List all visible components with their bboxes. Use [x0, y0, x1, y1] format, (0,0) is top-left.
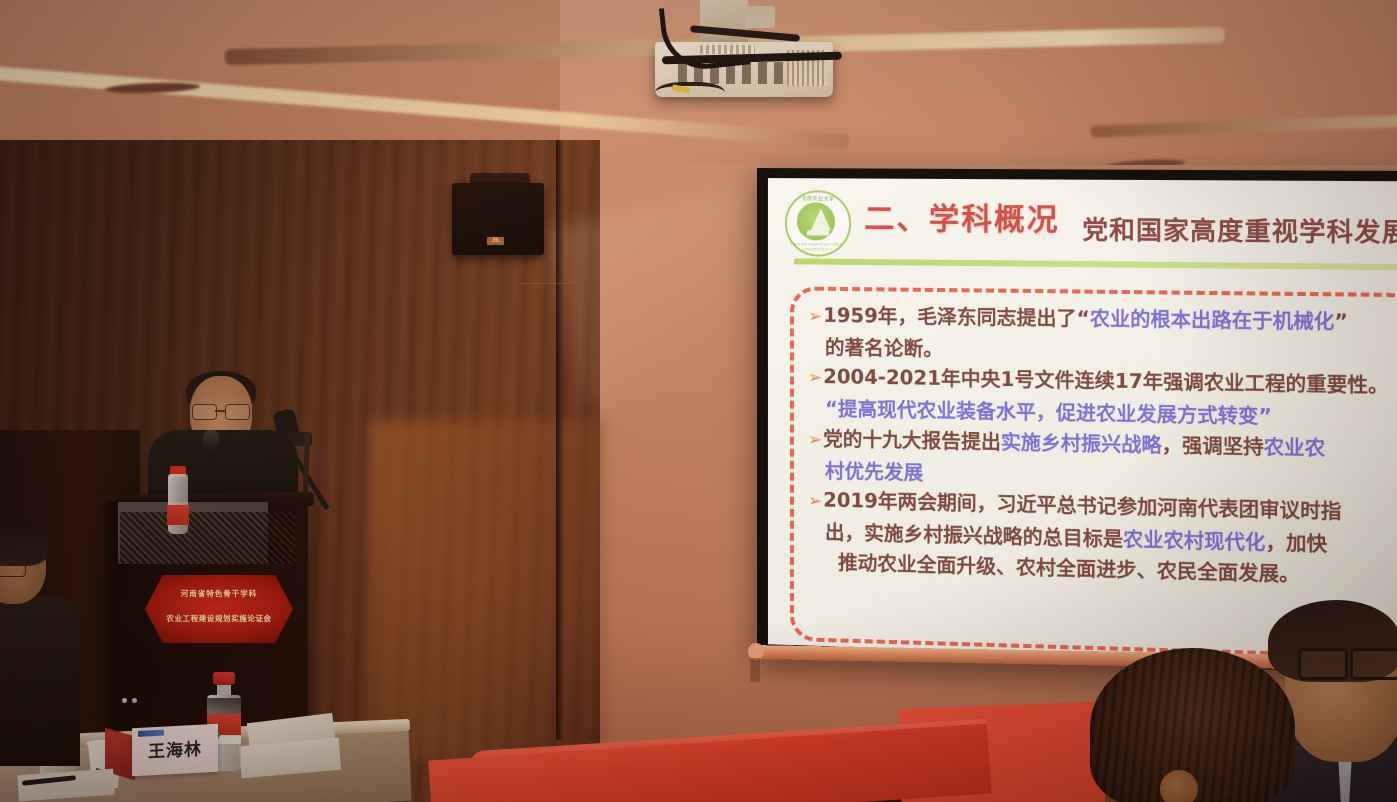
projection-screen: 河南农业大学 HENAN AGRICULTURAL UNIVERSITY 二、学…	[757, 168, 1397, 674]
slide-text: 出，实施乡村振兴战略的总目标是	[825, 521, 1123, 551]
podium-mesh-panel	[120, 512, 295, 564]
glasses-lens-right	[1350, 648, 1397, 680]
attendee-center-ear	[1160, 770, 1198, 802]
glasses-lens-right	[225, 404, 250, 420]
slide-text-highlight: 农业农村现代化	[1123, 528, 1265, 555]
wall-column-edge	[556, 140, 564, 740]
attendee-left-torso	[0, 596, 80, 766]
emblem-roof-shape	[811, 208, 831, 230]
slide-text: ”	[1334, 310, 1348, 334]
emblem-book-shape	[807, 230, 829, 235]
podium-indicator-lights	[122, 698, 127, 703]
emblem-top-text: 河南农业大学	[787, 195, 849, 202]
glasses-bridge	[215, 410, 225, 412]
speaker-cable	[520, 253, 590, 284]
bottle-label	[167, 505, 189, 525]
glasses-lens-left	[192, 404, 217, 420]
attendee-left-hair	[0, 524, 48, 566]
slide-subtitle: 党和国家高度重视学科发展	[1082, 210, 1397, 249]
slide-text: ，加快	[1265, 531, 1327, 556]
water-bottle-podium	[168, 474, 188, 534]
slide-text-highlight: 农业农	[1264, 435, 1326, 460]
slide-text: 党的十九大报告提出	[823, 427, 1001, 454]
slide-surface: 河南农业大学 HENAN AGRICULTURAL UNIVERSITY 二、学…	[768, 178, 1397, 664]
slide-header: 河南农业大学 HENAN AGRICULTURAL UNIVERSITY 二、学…	[768, 178, 1397, 270]
podium-banner: 河南省特色骨干学科 农业工程建设规划实施论证会	[145, 575, 293, 643]
presenter-glasses-icon	[192, 404, 250, 418]
slide-text-highlight: “提高现代农业装备水平，促进农业发展方式转变”	[825, 397, 1272, 428]
bottle-neck	[217, 685, 231, 695]
bullet-arrow-icon: ➢	[808, 368, 822, 388]
speaker-brand-label: JBL	[487, 237, 504, 245]
projector-cable	[655, 82, 725, 108]
podium-banner-line-2: 农业工程建设规划实施论证会	[145, 613, 293, 624]
bullet-arrow-icon: ➢	[808, 491, 822, 511]
slide-text: 的著名论断。	[825, 336, 943, 361]
attendee-left	[0, 530, 90, 760]
podium-banner-line-1: 河南省特色骨干学科	[145, 588, 293, 599]
slide-bullet-1: ➢1959年，毛泽东同志提出了“农业的根本出路在于机械化”	[808, 301, 1397, 339]
attendee-right-glasses-icon	[1298, 648, 1393, 674]
slide-text: 2004-2021年中央1号文件连续17年强调农业工程的重要性。	[823, 365, 1389, 397]
slide-text-highlight: 村优先发展	[825, 459, 923, 484]
projector-mount-knob	[745, 6, 775, 28]
glasses-lens-left	[1298, 648, 1348, 680]
bullet-arrow-icon: ➢	[808, 307, 822, 327]
microphone-head	[203, 430, 219, 454]
university-emblem-icon: 河南农业大学 HENAN AGRICULTURAL UNIVERSITY	[785, 190, 851, 257]
emblem-bottom-text: HENAN AGRICULTURAL UNIVERSITY	[787, 241, 849, 252]
bottle-cap	[213, 672, 235, 685]
screen-hook	[750, 658, 760, 682]
slide-body-text: ➢1959年，毛泽东同志提出了“农业的根本出路在于机械化”的著名论断。➢2004…	[808, 301, 1397, 593]
slide-divider-rule	[794, 258, 1397, 270]
slide-text: ，强调坚持	[1162, 433, 1264, 458]
namecard-name: 王海林	[132, 734, 218, 764]
slide-text-highlight: 农业的根本出路在于机械化	[1090, 307, 1335, 334]
bullet-arrow-icon: ➢	[808, 430, 822, 450]
attendee-left-glasses-icon	[0, 562, 26, 577]
name-card: 王海林	[132, 724, 218, 777]
conference-room-photo: JBL 河南农业大学 HENAN AGRICULTURAL UNIVERSITY…	[0, 0, 1397, 802]
slide-title: 二、学科概况	[864, 194, 1059, 240]
slide-text-highlight: 实施乡村振兴战略	[1001, 430, 1162, 456]
wood-highlight	[370, 420, 605, 760]
slide-text: 1959年，毛泽东同志提出了“	[823, 304, 1090, 331]
